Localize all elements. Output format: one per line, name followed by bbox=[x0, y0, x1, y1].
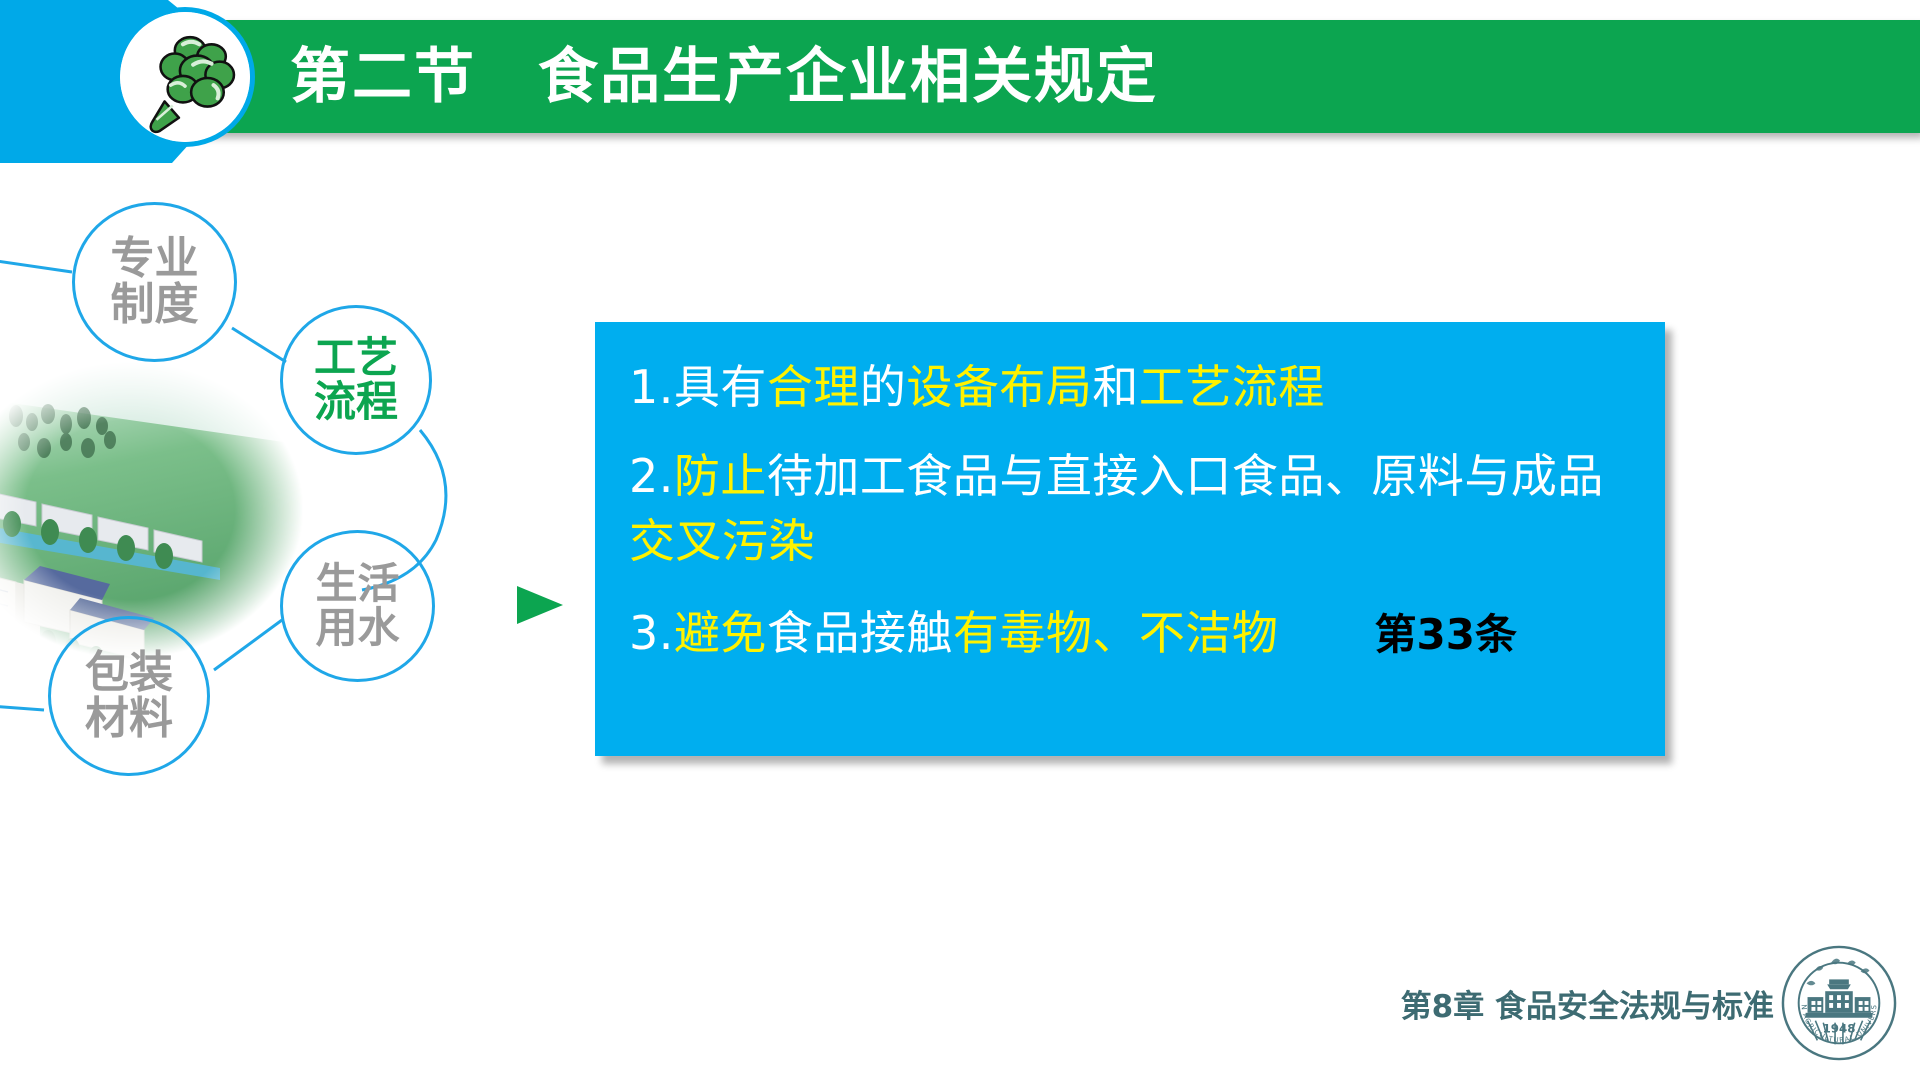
diagram-node-shenghuo-yongshui[interactable]: 生活 用水 bbox=[280, 530, 435, 682]
node-line-2: 流程 bbox=[314, 380, 398, 424]
diagram-node-gongyi-liucheng[interactable]: 工艺 流程 bbox=[280, 305, 432, 455]
highlighted-text: 交叉污染 bbox=[629, 514, 815, 568]
content-line-3-row: 3.避免食品接触有毒物、不洁物 第33条 bbox=[629, 601, 1637, 663]
content-line-1: 1.具有合理的设备布局和工艺流程 bbox=[629, 358, 1637, 417]
content-line-2-cont: 交叉污染 bbox=[629, 512, 1637, 571]
node-line-1: 包装 bbox=[85, 650, 173, 696]
content-panel: 1.具有合理的设备布局和工艺流程 2.防止待加工食品与直接入口食品、原料与成品 … bbox=[595, 322, 1665, 756]
node-line-2: 制度 bbox=[111, 282, 199, 328]
highlighted-text: 有毒物、不洁物 bbox=[953, 606, 1279, 660]
slide-footer: 第8章 食品安全法规与标准 1948 bbox=[1401, 944, 1898, 1062]
highlighted-text: 设备布局 bbox=[906, 360, 1092, 414]
clause-badge: 第33条 bbox=[1375, 601, 1517, 662]
highlighted-text: 防止 bbox=[674, 449, 767, 503]
footer-chapter-label: 第8章 食品安全法规与标准 bbox=[1401, 981, 1774, 1026]
plain-text: 的 bbox=[860, 360, 907, 414]
content-line-2: 2.防止待加工食品与直接入口食品、原料与成品 bbox=[629, 447, 1637, 506]
diagram-node-baozhuang-cailiao[interactable]: 包装 材料 bbox=[48, 616, 210, 776]
node-line-2: 用水 bbox=[315, 606, 399, 650]
node-line-2: 材料 bbox=[85, 696, 173, 742]
plain-text: 食品接触 bbox=[767, 606, 953, 660]
plain-text: 1.具有 bbox=[629, 360, 767, 414]
plain-text: 待加工食品与直接入口食品、原料与成品 bbox=[767, 449, 1604, 503]
plain-text: 2. bbox=[629, 449, 674, 503]
node-line-1: 工艺 bbox=[314, 336, 398, 380]
diagram-node-zhuanye-zhidu[interactable]: 专业 制度 bbox=[72, 202, 237, 362]
node-line-1: 专业 bbox=[111, 236, 199, 282]
right-triangle-arrow-icon bbox=[517, 586, 563, 624]
plain-text: 和 bbox=[1092, 360, 1139, 414]
highlighted-text: 避免 bbox=[674, 606, 767, 660]
university-seal-icon: 1948 JILIN AGRICULTURAL UNIVERSITY bbox=[1780, 944, 1898, 1062]
node-line-1: 生活 bbox=[315, 562, 399, 606]
highlighted-text: 合理 bbox=[767, 360, 860, 414]
content-line-3: 3.避免食品接触有毒物、不洁物 bbox=[629, 604, 1278, 663]
plain-text: 3. bbox=[629, 606, 674, 660]
highlighted-text: 工艺流程 bbox=[1139, 360, 1325, 414]
process-diagram: 专业 制度 工艺 流程 生活 用水 包装 材料 bbox=[0, 150, 640, 910]
broccoli-icon bbox=[120, 12, 250, 142]
page-title: 第二节 食品生产企业相关规定 bbox=[290, 27, 1158, 127]
